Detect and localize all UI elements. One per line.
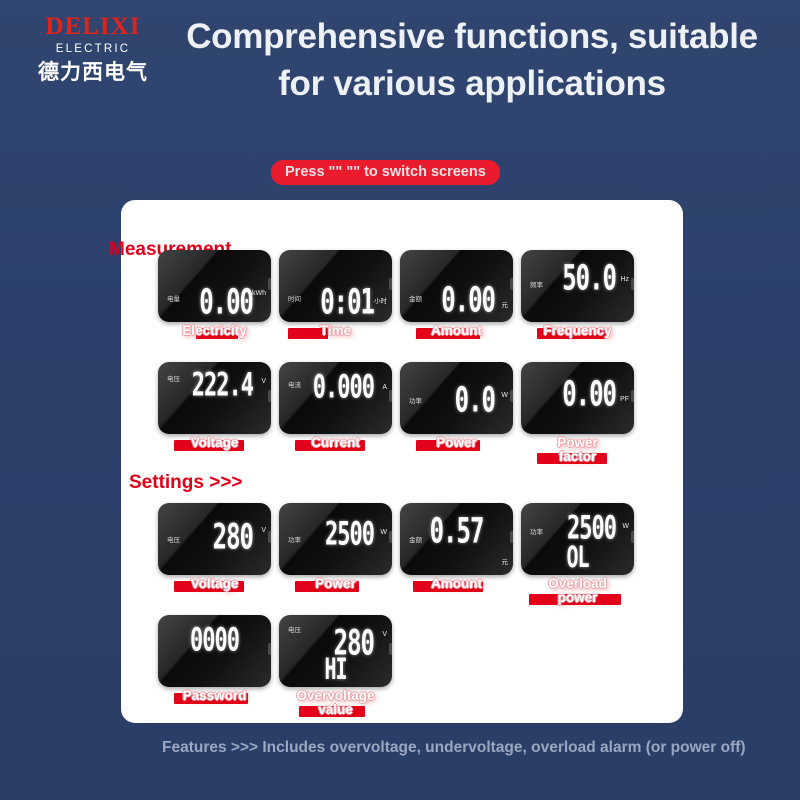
screen-notch <box>268 278 271 290</box>
meter-settings-overload-power[interactable]: 功率2500OLWOverloadpower <box>521 503 634 575</box>
meter-settings-power[interactable]: 功率2500WPower <box>279 503 392 575</box>
caption-word: Power <box>433 436 480 450</box>
caption-word: Time <box>317 324 354 338</box>
lcd-chinese-label: 频率 <box>530 282 543 289</box>
lcd-screen: 频率50.0Hz <box>521 250 634 322</box>
meter-caption: Power <box>400 436 513 450</box>
meter-settings-voltage[interactable]: 电压280VVoltage <box>158 503 271 575</box>
caption-word: Voltage <box>188 436 242 450</box>
caption-word: Electricity <box>179 324 250 338</box>
meter-measurement-power-factor[interactable]: 0.00PFPowerfactor <box>521 362 634 434</box>
meter-caption: Frequency <box>521 324 634 338</box>
meter-caption: Voltage <box>158 436 271 450</box>
lcd-unit: 元 <box>502 302 509 309</box>
lcd-unit: W <box>622 523 629 530</box>
lcd-chinese-label: 电压 <box>167 376 180 383</box>
meter-measurement-current[interactable]: 电流0.000ACurrent <box>279 362 392 434</box>
lcd-value: 0.00 <box>562 377 616 412</box>
lcd-screen: 电压280V <box>158 503 271 575</box>
lcd-screen: 电流0.000A <box>279 362 392 434</box>
lcd-value: 0.57 <box>430 514 484 549</box>
meter-caption: Powerfactor <box>521 436 634 464</box>
caption-word: Voltage <box>188 577 242 591</box>
caption-word: Amount <box>428 577 485 591</box>
meter-measurement-power[interactable]: 功率0.0WPower <box>400 362 513 434</box>
caption-word: Current <box>308 436 363 450</box>
footer-features-text: Features >>> Includes overvoltage, under… <box>162 736 786 759</box>
meter-caption: Overloadpower <box>521 577 634 605</box>
lcd-value: 280 <box>213 520 253 555</box>
screen-notch <box>631 531 634 543</box>
lcd-screen: 金额0.00元 <box>400 250 513 322</box>
brand-name: DELIXI <box>22 14 164 39</box>
lcd-unit: V <box>261 378 266 385</box>
screen-notch <box>389 531 392 543</box>
lcd-unit: W <box>380 529 387 536</box>
screen-notch <box>268 531 271 543</box>
lcd-unit: 小时 <box>374 298 387 305</box>
meter-caption: Amount <box>400 324 513 338</box>
lcd-screen: 功率2500OLW <box>521 503 634 575</box>
caption-word: factor <box>556 450 600 464</box>
lcd-chinese-label: 时间 <box>288 296 301 303</box>
lcd-value: 0.0 <box>455 383 495 418</box>
lcd-value: 2500 <box>325 520 374 552</box>
caption-word: Frequency <box>540 324 614 338</box>
brand-chinese-name: 德力西电气 <box>22 62 164 83</box>
lcd-chinese-label: 电压 <box>288 627 301 634</box>
meter-settings-password[interactable]: 0000Password <box>158 615 271 687</box>
lcd-screen: 功率2500W <box>279 503 392 575</box>
lcd-value: 0:01 <box>320 285 374 320</box>
brand-logo: DELIXI ELECTRIC 德力西电气 <box>22 14 164 83</box>
caption-word: Password <box>180 689 250 703</box>
lcd-screen: 电压280HIV <box>279 615 392 687</box>
lcd-chinese-label: 金额 <box>409 296 422 303</box>
meter-caption: Time <box>279 324 392 338</box>
caption-word: Power <box>312 577 359 591</box>
lcd-chinese-label: 电量 <box>167 296 180 303</box>
meter-caption: Power <box>279 577 392 591</box>
lcd-chinese-label: 功率 <box>409 398 422 405</box>
lcd-unit: V <box>382 631 387 638</box>
lcd-chinese-label: 功率 <box>530 529 543 536</box>
meter-caption: Amount <box>400 577 513 591</box>
switch-screens-pill: Press "" "" to switch screens <box>271 160 500 185</box>
lcd-screen: 功率0.0W <box>400 362 513 434</box>
meter-caption: Current <box>279 436 392 450</box>
lcd-screen: 0.00PF <box>521 362 634 434</box>
lcd-unit: V <box>261 527 266 534</box>
screen-notch <box>510 390 513 402</box>
lcd-unit: PF <box>620 396 629 403</box>
lcd-unit: W <box>501 392 508 399</box>
meter-caption: Password <box>158 689 271 703</box>
screen-notch <box>389 278 392 290</box>
screen-notch <box>631 278 634 290</box>
page-headline: Comprehensive functions, suitable for va… <box>160 14 784 107</box>
caption-word: value <box>315 703 356 717</box>
meter-caption: Overvoltagevalue <box>279 689 392 717</box>
content-card: Measurement >>> Settings >>> 电量0.00kWhEl… <box>121 200 683 723</box>
lcd-value-secondary: OL <box>566 543 588 572</box>
screen-notch <box>268 390 271 402</box>
lcd-value: 0.00 <box>441 283 495 318</box>
lcd-unit: kWh <box>252 290 266 297</box>
meter-measurement-frequency[interactable]: 频率50.0HzFrequency <box>521 250 634 322</box>
section-heading-settings: Settings >>> <box>129 472 243 493</box>
screen-notch <box>389 643 392 655</box>
lcd-screen: 金额0.57元 <box>400 503 513 575</box>
caption-word: power <box>555 591 601 605</box>
brand-subtitle: ELECTRIC <box>22 44 164 56</box>
lcd-chinese-label: 电压 <box>167 537 180 544</box>
meter-settings-amount[interactable]: 金额0.57元Amount <box>400 503 513 575</box>
page-root: DELIXI ELECTRIC 德力西电气 Comprehensive func… <box>0 0 800 800</box>
meter-measurement-voltage[interactable]: 电压222.4VVoltage <box>158 362 271 434</box>
screen-notch <box>510 531 513 543</box>
lcd-chinese-label: 电流 <box>288 382 301 389</box>
lcd-screen: 0000 <box>158 615 271 687</box>
lcd-value: 0000 <box>190 626 239 658</box>
lcd-screen: 时间0:01小时 <box>279 250 392 322</box>
lcd-unit: 元 <box>502 559 509 566</box>
caption-word: Amount <box>428 324 485 338</box>
meter-measurement-time[interactable]: 时间0:01小时Time <box>279 250 392 322</box>
screen-notch <box>268 643 271 655</box>
lcd-chinese-label: 功率 <box>288 537 301 544</box>
lcd-value: 222.4 <box>192 371 253 403</box>
lcd-value-secondary: HI <box>324 655 346 684</box>
lcd-value: 0.00 <box>199 285 253 320</box>
screen-notch <box>389 390 392 402</box>
lcd-value: 0.000 <box>313 373 374 405</box>
meter-caption: Electricity <box>158 324 271 338</box>
lcd-unit: Hz <box>620 276 629 283</box>
lcd-unit: A <box>382 384 387 391</box>
screen-notch <box>510 278 513 290</box>
meter-measurement-amount[interactable]: 金额0.00元Amount <box>400 250 513 322</box>
lcd-screen: 电压222.4V <box>158 362 271 434</box>
lcd-chinese-label: 金额 <box>409 537 422 544</box>
screen-notch <box>631 390 634 402</box>
lcd-screen: 电量0.00kWh <box>158 250 271 322</box>
meter-settings-overvoltage-value[interactable]: 电压280HIVOvervoltagevalue <box>279 615 392 687</box>
meter-caption: Voltage <box>158 577 271 591</box>
lcd-value: 50.0 <box>562 261 616 296</box>
meter-measurement-electricity[interactable]: 电量0.00kWhElectricity <box>158 250 271 322</box>
